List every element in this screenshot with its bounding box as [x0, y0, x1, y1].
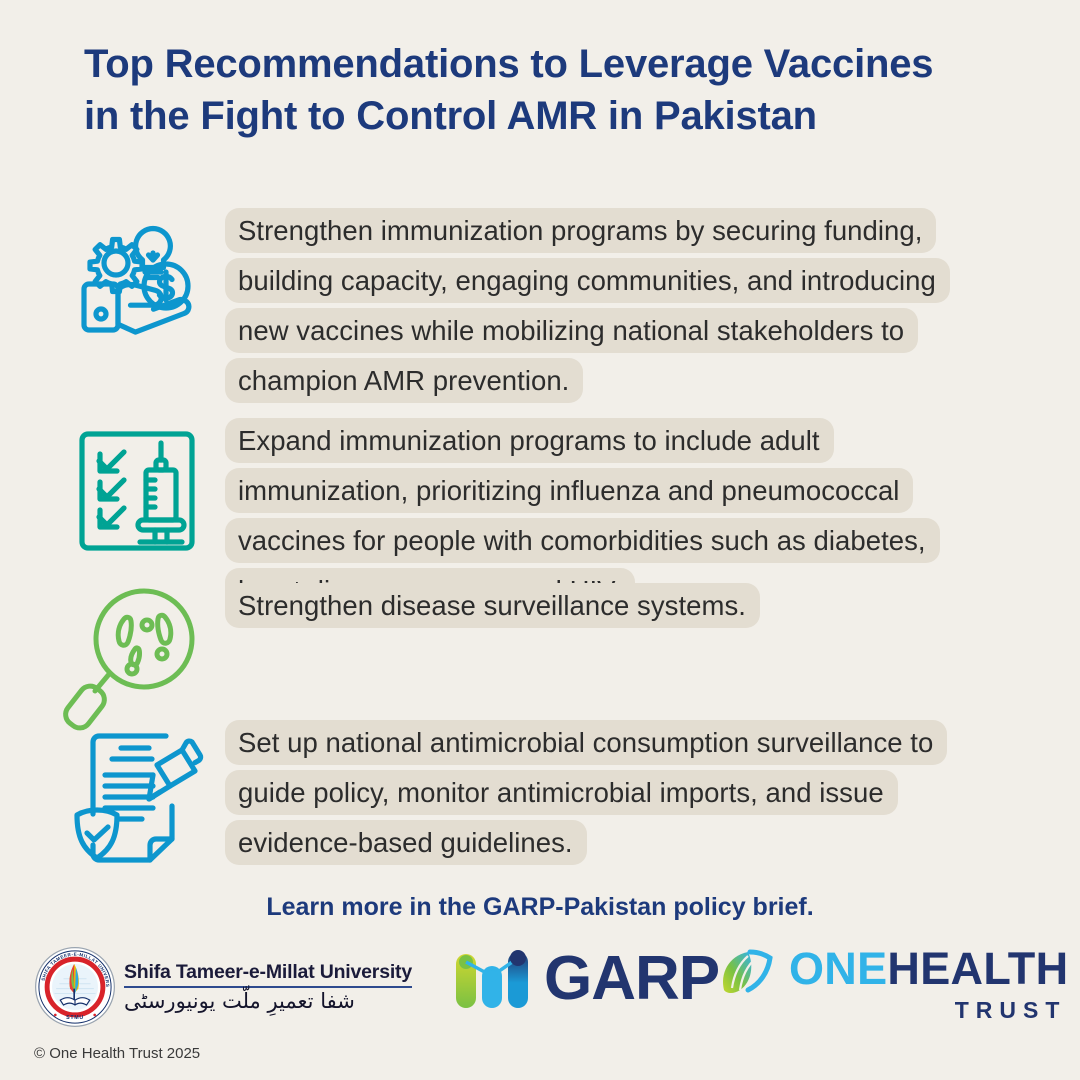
text-line: Expand immunization programs to include … [225, 418, 834, 463]
footer-logos: SHIFA TAMEER-E-MILLAT UNIVERSITY STMU Sh… [0, 940, 1080, 1035]
garp-mark-icon [452, 948, 542, 1010]
garp-logo: GARP [452, 948, 719, 1010]
text-line: champion AMR prevention. [225, 358, 583, 403]
checklist-syringe-icon [62, 416, 212, 566]
title-line-1: Top Recommendations to Leverage Vaccines [84, 38, 1024, 90]
stmu-bottom-text: STMU [66, 1015, 84, 1021]
stmu-name-english: Shifa Tameer-e-Millat University [124, 961, 412, 984]
document-pen-shield-icon [62, 718, 212, 868]
oht-word-health: HEALTH [887, 943, 1068, 994]
recommendation-text-lines: Strengthen disease surveillance systems. [225, 581, 1045, 631]
title-line-2: in the Fight to Control AMR in Pakistan [84, 90, 1024, 142]
text-line: vaccines for people with comorbidities s… [225, 518, 940, 563]
stmu-seal-icon: SHIFA TAMEER-E-MILLAT UNIVERSITY STMU [34, 946, 116, 1028]
oht-wordmark: ONEHEALTH TRUST [789, 946, 1068, 1024]
oht-main-words: ONEHEALTH [789, 946, 1068, 991]
text-line: Strengthen immunization programs by secu… [225, 208, 936, 253]
oht-word-trust: TRUST [789, 997, 1068, 1024]
text-line: new vaccines while mobilizing national s… [225, 308, 918, 353]
oht-word-one: ONE [789, 943, 887, 994]
text-line: Strengthen disease surveillance systems. [225, 583, 760, 628]
learn-more-text: Learn more in the GARP-Pakistan policy b… [0, 893, 1080, 922]
text-line: evidence-based guidelines. [225, 820, 587, 865]
recommendation-text-lines: Set up national antimicrobial consumptio… [225, 718, 1045, 868]
infographic-page: Top Recommendations to Leverage Vaccines… [0, 0, 1080, 1080]
stmu-name-urdu: شفا تعمیرِ ملّت یونیورسٹی [124, 989, 355, 1013]
hand-gear-lightbulb-coin-icon [62, 206, 212, 356]
one-health-trust-logo: ONEHEALTH TRUST [718, 946, 1068, 1024]
recommendation-text: Set up national antimicrobial consumptio… [225, 718, 1045, 868]
text-line: Set up national antimicrobial consumptio… [225, 720, 947, 765]
recommendation-text: Strengthen disease surveillance systems. [225, 581, 1045, 631]
oht-leaf-icon [718, 946, 780, 998]
page-title: Top Recommendations to Leverage Vaccines… [84, 38, 1024, 142]
text-line: immunization, prioritizing influenza and… [225, 468, 913, 513]
stmu-logo: SHIFA TAMEER-E-MILLAT UNIVERSITY STMU Sh… [34, 946, 412, 1028]
magnifier-bacteria-icon [62, 581, 212, 731]
stmu-divider [124, 986, 412, 988]
copyright-text: © One Health Trust 2025 [34, 1045, 200, 1062]
recommendation-text: Strengthen immunization programs by secu… [225, 206, 1045, 406]
stmu-wordmark: Shifa Tameer-e-Millat University شفا تعم… [124, 961, 412, 1013]
garp-wordmark: GARP [544, 948, 719, 1010]
text-line: building capacity, engaging communities,… [225, 258, 950, 303]
text-line: guide policy, monitor antimicrobial impo… [225, 770, 898, 815]
recommendation-text-lines: Strengthen immunization programs by secu… [225, 206, 1045, 406]
